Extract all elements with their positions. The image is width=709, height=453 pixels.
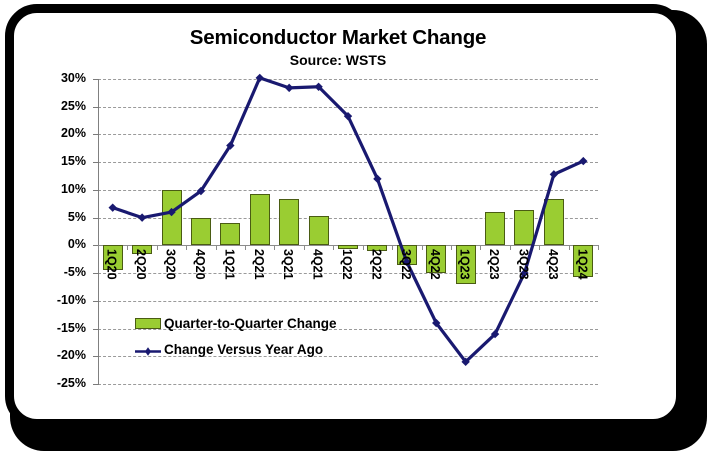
x-axis-tick [422, 245, 423, 250]
y-axis-label: -20% [32, 350, 86, 360]
line-marker [138, 213, 146, 221]
y-axis-label: -15% [32, 323, 86, 333]
x-axis-label: 2Q20 [135, 249, 146, 280]
x-axis-label: 4Q20 [194, 249, 205, 280]
y-axis-tick [93, 384, 99, 385]
y-axis-label: -10% [32, 295, 86, 305]
chart-legend: Quarter-to-Quarter Change Change Versus … [135, 310, 337, 362]
chart-content: Semiconductor Market Change Source: WSTS… [0, 0, 709, 453]
x-axis-tick [216, 245, 217, 250]
y-axis-label: -25% [32, 378, 86, 388]
legend-line-marker-icon [135, 344, 161, 355]
gridline [98, 384, 598, 385]
y-axis-label: -5% [32, 267, 86, 277]
x-axis-label: 4Q21 [312, 249, 323, 280]
x-axis-label: 4Q23 [547, 249, 558, 280]
x-axis-label: 2Q21 [253, 249, 264, 280]
y-axis-label: 10% [32, 184, 86, 194]
x-axis-tick [186, 245, 187, 250]
x-axis-label: 1Q22 [341, 249, 352, 280]
chart-subtitle: Source: WSTS [58, 52, 618, 68]
y-axis-label: 0% [32, 239, 86, 249]
x-axis-label: 2Q22 [370, 249, 381, 280]
x-axis-tick [333, 245, 334, 250]
legend-label-line: Change Versus Year Ago [164, 342, 323, 357]
x-axis-label: 2Q23 [488, 249, 499, 280]
x-axis-label: 1Q23 [459, 249, 470, 280]
x-axis-tick [127, 245, 128, 250]
x-axis-tick [274, 245, 275, 250]
y-axis-label: 15% [32, 156, 86, 166]
x-axis-tick [245, 245, 246, 250]
x-axis-label: 3Q23 [517, 249, 528, 280]
y-axis-label: 30% [32, 73, 86, 83]
legend-item-bar: Quarter-to-Quarter Change [135, 310, 337, 336]
x-axis-label: 3Q20 [165, 249, 176, 280]
y-axis-label: 25% [32, 101, 86, 111]
x-axis-tick [392, 245, 393, 250]
x-axis-label: 1Q20 [106, 249, 117, 280]
x-axis-tick [598, 245, 599, 250]
x-axis-tick [451, 245, 452, 250]
legend-bar-swatch-icon [135, 318, 161, 329]
x-axis-tick [304, 245, 305, 250]
legend-label-bar: Quarter-to-Quarter Change [164, 316, 337, 331]
chart-title: Semiconductor Market Change [58, 26, 618, 50]
x-axis-label: 3Q22 [400, 249, 411, 280]
line-marker [285, 84, 293, 92]
line-marker [109, 203, 117, 211]
x-axis-label: 1Q24 [576, 249, 587, 280]
y-axis-label: 20% [32, 128, 86, 138]
x-axis-tick [569, 245, 570, 250]
x-axis-tick [157, 245, 158, 250]
x-axis-tick [539, 245, 540, 250]
x-axis-tick [510, 245, 511, 250]
chart-figure: Semiconductor Market Change Source: WSTS… [0, 0, 709, 453]
legend-item-line: Change Versus Year Ago [135, 336, 337, 362]
x-axis-label: 1Q21 [223, 249, 234, 280]
x-axis-label: 4Q22 [429, 249, 440, 280]
x-axis-label: 3Q21 [282, 249, 293, 280]
x-axis-tick [98, 245, 99, 250]
y-axis-label: 5% [32, 212, 86, 222]
x-axis-tick [363, 245, 364, 250]
x-axis-tick [480, 245, 481, 250]
